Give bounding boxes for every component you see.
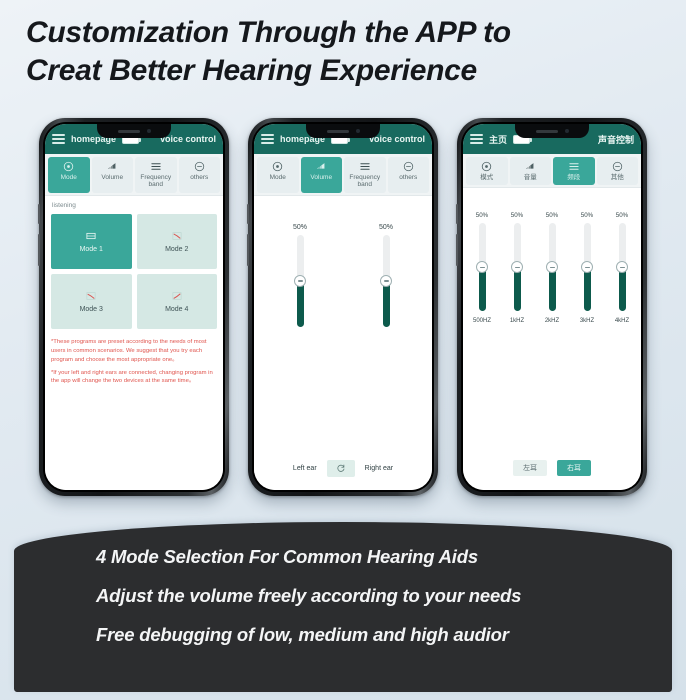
target-icon bbox=[63, 160, 74, 172]
front-camera-icon bbox=[147, 129, 151, 133]
tab-others-label: 其他 bbox=[611, 174, 624, 181]
voice-control-label[interactable]: Voice control bbox=[369, 134, 425, 144]
phone-notch bbox=[515, 124, 589, 138]
tab-frequency-band[interactable]: 频段 bbox=[553, 157, 595, 185]
equalizer-icon bbox=[359, 160, 371, 172]
rising-curve-icon bbox=[170, 289, 183, 302]
tab-bar: Mode Volume Frequency band bbox=[45, 154, 223, 196]
volume-right-knob[interactable] bbox=[380, 275, 392, 287]
frequency-3khz-track[interactable] bbox=[584, 223, 591, 311]
tab-others[interactable]: others bbox=[179, 157, 221, 193]
sync-button[interactable] bbox=[327, 460, 355, 477]
mode-panel: listening Mode 1 bbox=[45, 196, 223, 490]
tab-frequency-band[interactable]: Frequency band bbox=[135, 157, 177, 193]
tab-volume[interactable]: 音量 bbox=[510, 157, 552, 185]
phone-bezel: homepage Voice control Mode bbox=[43, 122, 225, 492]
left-ear-button[interactable]: 左耳 bbox=[513, 460, 547, 476]
hamburger-icon[interactable] bbox=[261, 134, 274, 144]
phone-screen: homepage Voice control Mode bbox=[45, 124, 223, 490]
frequency-2khz-value: 50% bbox=[546, 212, 558, 219]
circle-minus-icon bbox=[194, 160, 205, 172]
headline-line-1: Customization Through the APP to bbox=[26, 16, 511, 49]
ear-footer: Left ear Right ear bbox=[254, 452, 432, 490]
phone-bezel: 主页 声音控制 模式 bbox=[461, 122, 643, 492]
frequency-1khz-fill bbox=[514, 267, 521, 311]
feature-banner-lines: 4 Mode Selection For Common Hearing Aids… bbox=[14, 546, 672, 646]
tab-frequency-band[interactable]: Frequency band bbox=[344, 157, 386, 193]
tab-volume-label: Volume bbox=[310, 174, 332, 181]
phone-bezel: homepage Voice control Mode bbox=[252, 122, 434, 492]
target-icon bbox=[481, 160, 492, 172]
tab-mode[interactable]: 模式 bbox=[466, 157, 508, 185]
frequency-slider-500hz: 50% 500HZ bbox=[465, 212, 500, 324]
frequency-4khz-value: 50% bbox=[616, 212, 628, 219]
mode-note-1: *These programs are preset according to … bbox=[51, 338, 217, 365]
frequency-1khz-value: 50% bbox=[511, 212, 523, 219]
tab-mode-label: Mode bbox=[61, 174, 77, 181]
frequency-1khz-track[interactable] bbox=[514, 223, 521, 311]
frequency-500hz-track[interactable] bbox=[479, 223, 486, 311]
frequency-slider-2khz: 50% 2kHZ bbox=[535, 212, 570, 324]
volume-slider-panel: 50% 50% bbox=[254, 196, 432, 452]
ear-footer: 左耳 右耳 bbox=[463, 452, 641, 490]
frequency-slider-4khz: 50% 4kHZ bbox=[605, 212, 640, 324]
tab-others-label: others bbox=[399, 174, 417, 181]
tab-mode-label: 模式 bbox=[480, 174, 493, 181]
tab-frequency-band-label: 频段 bbox=[567, 174, 580, 181]
tab-frequency-band-label: Frequency band bbox=[136, 174, 176, 189]
left-ear-label[interactable]: Left ear bbox=[293, 465, 317, 472]
frequency-2khz-track[interactable] bbox=[549, 223, 556, 311]
mode-tile-1-label: Mode 1 bbox=[80, 246, 103, 253]
falling-curve-icon bbox=[170, 229, 183, 242]
volume-icon bbox=[315, 160, 327, 172]
volume-icon bbox=[106, 160, 118, 172]
feature-line-3: Free debugging of low, medium and high a… bbox=[96, 624, 632, 646]
earpiece-speaker bbox=[536, 130, 558, 133]
volume-right-value: 50% bbox=[379, 224, 393, 231]
volume-left-value: 50% bbox=[293, 224, 307, 231]
phone-screen: homepage Voice control Mode bbox=[254, 124, 432, 490]
phone-notch bbox=[306, 124, 380, 138]
frequency-4khz-label: 4kHZ bbox=[615, 318, 629, 324]
mode-tile-3[interactable]: Mode 3 bbox=[51, 274, 132, 329]
frequency-2khz-label: 2kHZ bbox=[545, 318, 559, 324]
mode-tile-4[interactable]: Mode 4 bbox=[137, 274, 218, 329]
frequency-500hz-label: 500HZ bbox=[473, 318, 491, 324]
mode-tile-2-label: Mode 2 bbox=[165, 246, 188, 253]
earpiece-speaker bbox=[327, 130, 349, 133]
frequency-2khz-fill bbox=[549, 267, 556, 311]
feature-banner: 4 Mode Selection For Common Hearing Aids… bbox=[14, 522, 672, 692]
volume-left-knob[interactable] bbox=[294, 275, 306, 287]
phone-mockups: homepage Voice control Mode bbox=[0, 118, 686, 508]
phone-notch bbox=[97, 124, 171, 138]
volume-left-track[interactable] bbox=[297, 235, 304, 327]
volume-slider-left: 50% bbox=[257, 224, 343, 327]
section-label-listening: listening bbox=[52, 202, 217, 209]
volume-right-track[interactable] bbox=[383, 235, 390, 327]
voice-control-label[interactable]: Voice control bbox=[160, 134, 216, 144]
equalizer-icon bbox=[568, 160, 580, 172]
phone-frequency-cn: 主页 声音控制 模式 bbox=[457, 118, 647, 496]
feature-line-1: 4 Mode Selection For Common Hearing Aids bbox=[96, 546, 632, 568]
mode-tile-3-label: Mode 3 bbox=[80, 306, 103, 313]
app-title: 主页 bbox=[489, 133, 507, 146]
volume-slider-right: 50% bbox=[343, 224, 429, 327]
frequency-4khz-knob[interactable] bbox=[616, 261, 628, 273]
mode-tile-4-label: Mode 4 bbox=[165, 306, 188, 313]
frequency-3khz-knob[interactable] bbox=[581, 261, 593, 273]
frequency-500hz-knob[interactable] bbox=[476, 261, 488, 273]
earpiece-speaker bbox=[118, 130, 140, 133]
tab-frequency-band-label: Frequency band bbox=[345, 174, 385, 189]
tab-volume-label: 音量 bbox=[524, 174, 537, 181]
mode-tile-1[interactable]: Mode 1 bbox=[51, 214, 132, 269]
sync-icon bbox=[336, 463, 346, 473]
frequency-slider-panel: 50% 500HZ 50% bbox=[463, 188, 641, 452]
headline-line-2: Creat Better Hearing Experience bbox=[26, 52, 660, 90]
tab-mode[interactable]: Mode bbox=[48, 157, 90, 193]
mode-notes: *These programs are preset according to … bbox=[51, 338, 217, 386]
right-ear-button[interactable]: 右耳 bbox=[557, 460, 591, 476]
tab-others-label: others bbox=[190, 174, 208, 181]
tab-volume[interactable]: Volume bbox=[301, 157, 343, 193]
mode-note-2: *If your left and right ears are connect… bbox=[51, 369, 217, 387]
page-title: Customization Through the APP to Creat B… bbox=[0, 14, 686, 91]
tab-bar: 模式 音量 频段 bbox=[463, 154, 641, 188]
mode-tile-2[interactable]: Mode 2 bbox=[137, 214, 218, 269]
volume-right-fill bbox=[383, 281, 390, 327]
tab-others[interactable]: 其他 bbox=[597, 157, 639, 185]
target-icon bbox=[272, 160, 283, 172]
tab-volume[interactable]: Volume bbox=[92, 157, 134, 193]
frequency-1khz-knob[interactable] bbox=[511, 261, 523, 273]
rect-waveform-icon bbox=[85, 229, 98, 242]
frequency-500hz-fill bbox=[479, 267, 486, 311]
phone-mode: homepage Voice control Mode bbox=[39, 118, 229, 496]
volume-left-fill bbox=[297, 281, 304, 327]
hamburger-icon[interactable] bbox=[52, 134, 65, 144]
voice-control-label[interactable]: 声音控制 bbox=[598, 133, 634, 146]
volume-icon bbox=[524, 160, 536, 172]
tab-mode-label: Mode bbox=[270, 174, 286, 181]
front-camera-icon bbox=[356, 129, 360, 133]
tab-volume-label: Volume bbox=[101, 174, 123, 181]
circle-minus-icon bbox=[612, 160, 623, 172]
right-ear-label[interactable]: Right ear bbox=[365, 465, 393, 472]
falling-curve-icon bbox=[85, 289, 98, 302]
frequency-3khz-label: 3kHZ bbox=[580, 318, 594, 324]
mode-grid: Mode 1 Mode 2 bbox=[51, 214, 217, 329]
frequency-3khz-value: 50% bbox=[581, 212, 593, 219]
poster: Customization Through the APP to Creat B… bbox=[0, 0, 686, 700]
frequency-4khz-fill bbox=[619, 267, 626, 311]
feature-line-2: Adjust the volume freely according to yo… bbox=[96, 585, 632, 607]
phone-screen: 主页 声音控制 模式 bbox=[463, 124, 641, 490]
tab-mode[interactable]: Mode bbox=[257, 157, 299, 193]
tab-bar: Mode Volume Frequency band bbox=[254, 154, 432, 196]
frequency-4khz-track[interactable] bbox=[619, 223, 626, 311]
frequency-slider-3khz: 50% 3kHZ bbox=[570, 212, 605, 324]
frequency-slider-1khz: 50% 1kHZ bbox=[500, 212, 535, 324]
circle-minus-icon bbox=[403, 160, 414, 172]
frequency-3khz-fill bbox=[584, 267, 591, 311]
frequency-500hz-value: 50% bbox=[476, 212, 488, 219]
tab-others[interactable]: others bbox=[388, 157, 430, 193]
equalizer-icon bbox=[150, 160, 162, 172]
front-camera-icon bbox=[565, 129, 569, 133]
hamburger-icon[interactable] bbox=[470, 134, 483, 144]
frequency-1khz-label: 1kHZ bbox=[510, 318, 524, 324]
frequency-2khz-knob[interactable] bbox=[546, 261, 558, 273]
phone-volume: homepage Voice control Mode bbox=[248, 118, 438, 496]
